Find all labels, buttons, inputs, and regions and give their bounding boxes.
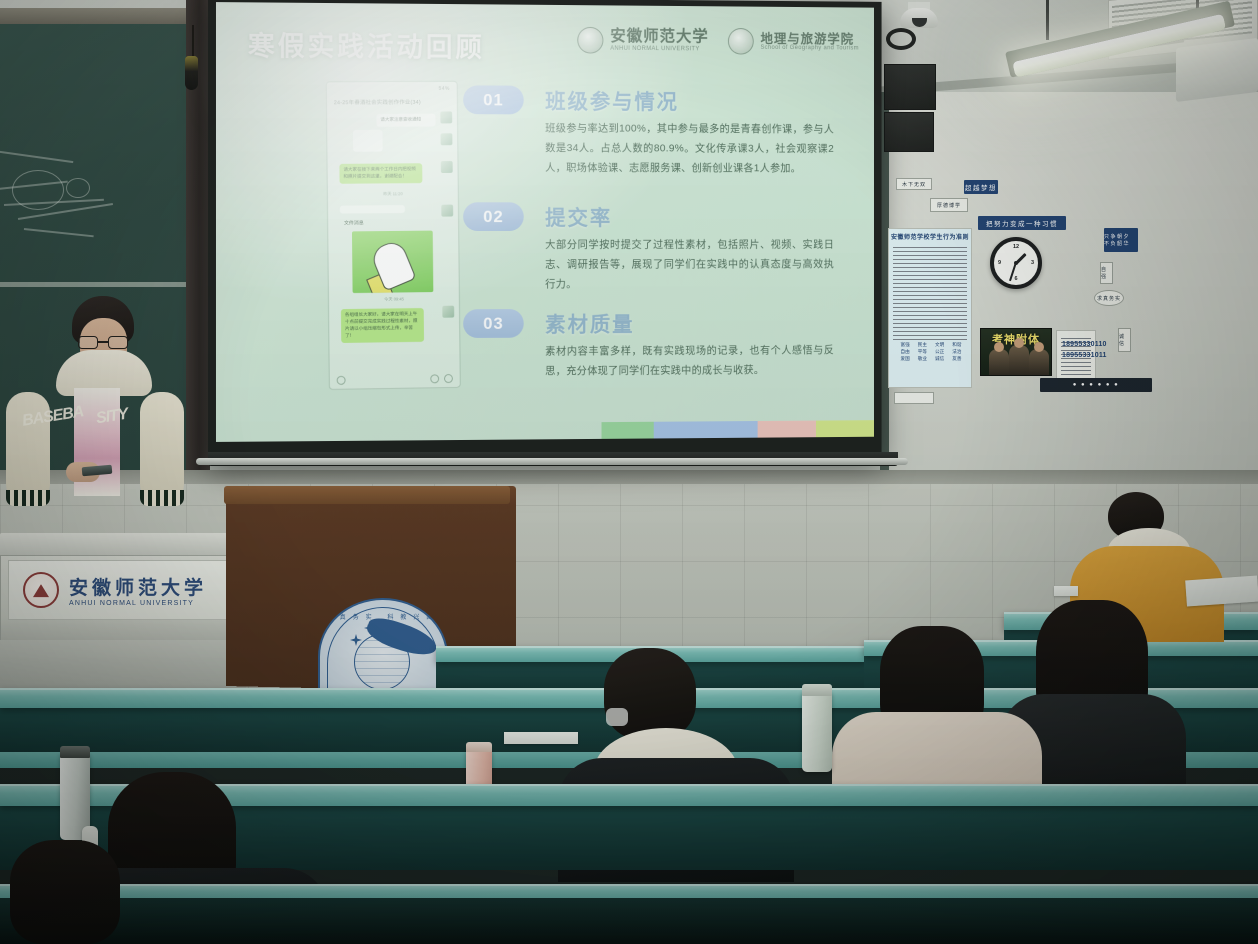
chat-image-sticker <box>352 231 433 294</box>
slide-logos: 安徽师范大学 ANHUI NORMAL UNIVERSITY 地理与旅游学院 S… <box>577 27 859 56</box>
classroom-photo-scene: 寒假实践活动回顾 安徽师范大学 ANHUI NORMAL UNIVERSITY … <box>0 0 1258 944</box>
section-heading: 班级参与情况 <box>545 86 679 116</box>
lectern-nameplate: 安徽师范大学 ANHUI NORMAL UNIVERSITY <box>8 560 234 620</box>
student-long-hair <box>10 840 120 944</box>
avatar <box>442 306 454 318</box>
section-body: 班级参与率达到100%，其中参与最多的是青春创作课，参与人数是34人。占总人数的… <box>545 119 834 179</box>
student-head <box>604 648 696 740</box>
thermos-cap <box>60 746 90 758</box>
desk-front-panel <box>0 898 1258 944</box>
projector <box>1176 38 1258 102</box>
slide-section-01: 01 班级参与情况 班级参与率达到100%，其中参与最多的是青春创作课，参与人数… <box>463 85 849 87</box>
podium-top-surface <box>224 486 510 504</box>
presenter-glasses <box>78 336 128 349</box>
lectern-name-en: ANHUI NORMAL UNIVERSITY <box>69 600 207 607</box>
color-chip-green <box>602 422 654 439</box>
chalk-rail <box>0 282 188 287</box>
section-number-badge: 01 <box>463 85 524 114</box>
lectern-base <box>0 640 246 690</box>
section-heading: 提交率 <box>545 202 612 232</box>
avatar <box>441 161 453 173</box>
university-seal-icon <box>23 572 59 608</box>
white-thermos <box>802 690 832 772</box>
paper-sheet <box>1054 586 1078 596</box>
keyboard-icon <box>430 374 439 383</box>
back-icon <box>337 376 346 385</box>
exam-poster: 考神附体 <box>980 328 1052 376</box>
wall-clock: 12 3 6 9 <box>990 237 1042 289</box>
podium-emblem: 求真务实 科教兴国 <box>318 598 448 688</box>
student-bottom-left <box>0 840 150 944</box>
rules-poster: 安徽师范学校学生行为准则 富强民主 文明和谐 自由平等 公正法治 爱国敬业 诚信… <box>888 228 972 388</box>
color-chip-lime <box>816 420 874 437</box>
avatar <box>441 133 453 145</box>
wall-speaker <box>884 64 936 110</box>
paper-sheet <box>504 732 578 744</box>
color-chip-blue <box>654 421 758 438</box>
slide-surface: 寒假实践活动回顾 安徽师范大学 ANHUI NORMAL UNIVERSITY … <box>216 2 874 442</box>
section-body: 素材内容丰富多样，既有实践现场的记录，也有个人感悟与反思，充分体现了同学们在实践… <box>545 341 834 382</box>
university-logo: 安徽师范大学 ANHUI NORMAL UNIVERSITY <box>577 27 708 55</box>
screen-roller-bar <box>196 458 908 465</box>
chat-bubble: 请大家在接下来两个工作日内把视频和照片提交到这里，谢谢配合！ <box>339 163 422 183</box>
wall-strip-banner: ● ● ● ● ● ● <box>1040 378 1152 392</box>
wall-chip: 自强 <box>1100 262 1113 284</box>
wall-chip: 厚德博学 <box>930 198 968 212</box>
phone-number-notice: 18955330110 18955331011 <box>1062 340 1107 362</box>
phone-status-bar: 54% <box>439 86 450 92</box>
school-logo-en: School of Geography and Tourism <box>760 45 858 52</box>
book-stack <box>1185 576 1258 607</box>
chat-bubble: 请大家注意查收通知 <box>376 114 435 127</box>
wall-chip-small <box>894 392 934 404</box>
core-values-grid: 富强民主 文明和谐 自由平等 公正法治 爱国敬业 诚信友善 <box>897 342 965 362</box>
school-seal-icon <box>728 28 754 55</box>
chat-timestamp: 昨天 11:20 <box>328 191 458 198</box>
face-mask <box>606 708 628 726</box>
chat-attachment <box>353 130 383 152</box>
emoji-icon <box>444 374 453 383</box>
presenter-sleeve-right <box>140 392 184 504</box>
slide-color-bar <box>216 420 874 442</box>
university-logo-en: ANHUI NORMAL UNIVERSITY <box>610 46 708 53</box>
chat-file-label: 文件消息 <box>340 217 368 231</box>
thermos-cap <box>466 742 492 752</box>
wall-banner: 超越梦想 <box>964 180 998 194</box>
chat-timestamp: 今天 09:45 <box>329 296 459 304</box>
slide-title: 寒假实践活动回顾 <box>248 24 485 64</box>
wall-speaker-lower <box>884 112 934 152</box>
wall-banner: 只争朝夕 不负韶华 <box>1104 228 1138 252</box>
presenter: BASEBA SITY <box>0 296 200 556</box>
slide-section-03: 03 素材质量 素材内容丰富多样，既有实践现场的记录，也有个人感悟与反思，充分体… <box>463 308 849 309</box>
chat-system-note <box>340 205 405 214</box>
microphone-icon <box>185 56 198 90</box>
section-body: 大部分同学按时提交了过程性素材，包括照片、视频、实践日志、调研报告等，展现了同学… <box>545 236 834 295</box>
section-heading: 素材质量 <box>545 309 634 339</box>
wall-banner: 把努力变成一种习惯 <box>978 216 1066 230</box>
lectern-name-cn: 安徽师范大学 <box>69 573 207 600</box>
avatar <box>441 205 453 217</box>
phone-footer-bar <box>330 374 460 385</box>
clock-center-pin <box>1014 261 1018 265</box>
university-seal-icon <box>577 27 603 54</box>
section-number-badge: 03 <box>463 309 524 338</box>
thermos-cap <box>802 684 832 696</box>
wall-chip: 求真务实 <box>1094 290 1124 306</box>
color-chip-pink <box>758 421 816 438</box>
rules-poster-title: 安徽师范学校学生行为准则 <box>889 229 971 241</box>
school-logo-cn: 地理与旅游学院 <box>760 32 858 46</box>
chalkboard-frame <box>0 8 204 24</box>
school-logo: 地理与旅游学院 School of Geography and Tourism <box>728 28 859 55</box>
coiled-cable <box>886 28 916 50</box>
avatar <box>440 111 452 123</box>
phone-screenshot-image: 54% 24-25年春酒社会实践创作作业(34) 请大家注意查收通知 请大家在接… <box>326 81 461 390</box>
wall-chip: 诚信 <box>1118 328 1131 352</box>
projection-screen: 寒假实践活动回顾 安徽师范大学 ANHUI NORMAL UNIVERSITY … <box>208 0 882 464</box>
chat-bubble: 各组组长大家好，请大家在明天上午十点前提交完成实践过程性素材，照片请以小组压缩包… <box>341 308 424 343</box>
university-logo-cn: 安徽师范大学 <box>610 29 708 46</box>
section-number-badge: 02 <box>463 202 524 231</box>
wall-chip: 木下无双 <box>896 178 932 190</box>
phone-chat-title: 24-25年春酒社会实践创作作业(34) <box>334 98 449 107</box>
